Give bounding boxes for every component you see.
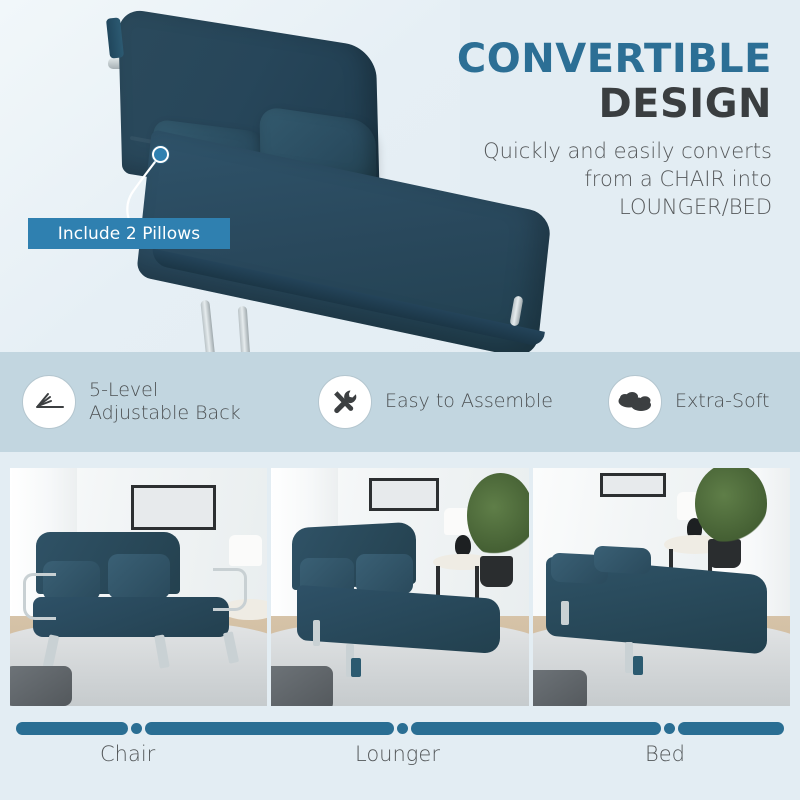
mode-label-lounger: Lounger bbox=[355, 742, 440, 766]
product-infographic: Include 2 Pillows CONVERTIBLE DESIGN Qui… bbox=[0, 0, 800, 800]
callout-badge: Include 2 Pillows bbox=[28, 218, 230, 249]
plant-pot bbox=[708, 539, 741, 568]
progress-dot-1 bbox=[131, 723, 142, 734]
hero-subtitle: Quickly and easily converts from a CHAIR… bbox=[372, 137, 772, 222]
callout-anchor-dot bbox=[152, 146, 169, 163]
chair-pillow-right bbox=[108, 554, 170, 599]
bed-leg-rear bbox=[561, 601, 569, 625]
room-scene bbox=[10, 468, 267, 706]
lamp-shade bbox=[229, 535, 262, 566]
feature-label-line-1: Extra-Soft bbox=[675, 390, 770, 413]
photo-chair: navy convertible chair upright in bright… bbox=[10, 468, 267, 706]
feature-label-line-1: 5-Level bbox=[89, 379, 241, 402]
feature-easy-assemble-label: Easy to Assemble bbox=[385, 390, 553, 413]
bed-leg-grip bbox=[633, 656, 643, 675]
progress-segment-chair[interactable] bbox=[16, 722, 128, 735]
progress-dot-3 bbox=[664, 723, 675, 734]
feature-label-line-1: Easy to Assemble bbox=[385, 390, 553, 413]
feature-adjustable-back-label: 5-Level Adjustable Back bbox=[89, 379, 241, 425]
mode-labels: Chair Lounger Bed bbox=[0, 742, 800, 782]
plant-foliage bbox=[467, 473, 529, 559]
clouds-icon bbox=[608, 375, 662, 429]
chair-seat bbox=[33, 597, 229, 637]
progress-segment-bed[interactable] bbox=[411, 722, 661, 735]
floor-cushion bbox=[533, 670, 587, 706]
chair-armrest-right bbox=[213, 568, 246, 611]
wall-art bbox=[600, 473, 667, 497]
progress-segment-end[interactable] bbox=[678, 722, 784, 735]
progress-segment-lounger[interactable] bbox=[145, 722, 395, 735]
feature-extra-soft: Extra-Soft bbox=[586, 352, 800, 452]
feature-extra-soft-label: Extra-Soft bbox=[675, 390, 770, 413]
photo-bed: navy convertible bed laid flat with two … bbox=[533, 468, 790, 706]
mode-progress-section: Chair Lounger Bed bbox=[0, 708, 800, 800]
lounger-pillow-right bbox=[356, 554, 413, 594]
mode-label-bed: Bed bbox=[645, 742, 685, 766]
feature-easy-assemble: Easy to Assemble bbox=[296, 352, 586, 452]
progress-dot-2 bbox=[397, 723, 408, 734]
hero-title-convertible: CONVERTIBLE bbox=[372, 38, 772, 80]
hero-subtitle-line-2: from a CHAIR into bbox=[372, 165, 772, 193]
hero-section: Include 2 Pillows CONVERTIBLE DESIGN Qui… bbox=[0, 0, 800, 352]
lounger-leg-grip bbox=[351, 658, 361, 677]
hero-headings: CONVERTIBLE DESIGN Quickly and easily co… bbox=[372, 38, 772, 222]
photo-lounger: navy convertible lounger reclined with s… bbox=[271, 468, 528, 706]
bed-pillow-right bbox=[594, 545, 651, 574]
feature-label-line-2: Adjustable Back bbox=[89, 402, 241, 425]
photo-row: navy convertible chair upright in bright… bbox=[0, 452, 800, 708]
product-leg-front-outer bbox=[200, 300, 216, 352]
bed-leg-front bbox=[625, 642, 633, 673]
wall-art bbox=[369, 478, 438, 511]
hero-subtitle-line-1: Quickly and easily converts bbox=[372, 137, 772, 165]
hero-subtitle-line-3: LOUNGER/BED bbox=[372, 193, 772, 221]
feature-adjustable-back: 5-Level Adjustable Back bbox=[0, 352, 296, 452]
wall-art bbox=[131, 485, 216, 530]
room-scene bbox=[533, 468, 790, 706]
lamp-base bbox=[455, 535, 470, 556]
features-band: 5-Level Adjustable Back Easy to Assemble bbox=[0, 352, 800, 452]
mode-label-chair: Chair bbox=[100, 742, 155, 766]
chair-armrest-left bbox=[23, 573, 56, 621]
lounger-leg-rear bbox=[313, 620, 321, 646]
plant-pot bbox=[480, 556, 513, 587]
floor-cushion bbox=[10, 666, 72, 706]
room-scene bbox=[271, 468, 528, 706]
recline-angle-icon bbox=[22, 375, 76, 429]
product-leg-front-inner bbox=[238, 306, 252, 352]
floor-cushion bbox=[271, 666, 333, 706]
hero-title-design: DESIGN bbox=[372, 82, 772, 127]
mode-progress-track[interactable] bbox=[16, 722, 784, 735]
wrench-screwdriver-icon bbox=[318, 375, 372, 429]
callout-badge-label: Include 2 Pillows bbox=[58, 224, 200, 244]
